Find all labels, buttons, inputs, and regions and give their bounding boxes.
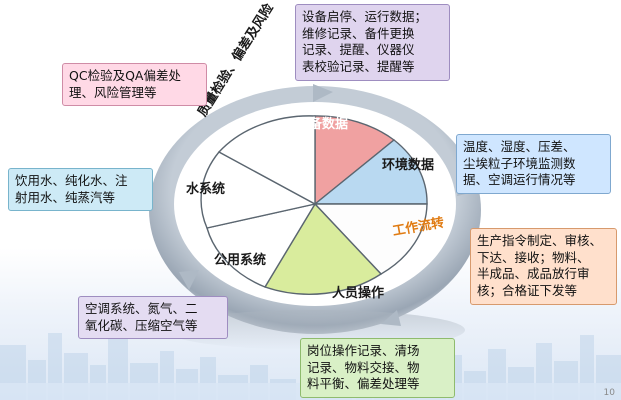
page-number: 10	[604, 388, 615, 398]
callout-environment-data: 温度、湿度、压差、 尘埃粒子环境监测数 据、空调运行情况等	[456, 134, 611, 194]
slice-label-personnel-ops: 人员操作	[332, 282, 384, 301]
callout-water-systems: 饮用水、纯化水、注 射用水、纯蒸汽等	[8, 168, 153, 211]
slice-label-environment-data: 环境数据	[382, 154, 434, 173]
callout-line: 理、风险管理等	[69, 85, 200, 102]
callout-line: 空调系统、氮气、二	[85, 301, 221, 318]
callout-line: 岗位操作记录、清场	[307, 343, 448, 360]
callout-line: 据、空调运行情况等	[463, 172, 604, 189]
callout-line: QC检验及QA偏差处	[69, 68, 200, 85]
callout-line: 设备启停、运行数据；	[302, 9, 443, 26]
callout-line: 料平衡、偏差处理等	[307, 376, 448, 393]
slice-label-water-systems: 水系统	[186, 178, 225, 197]
callout-equipment-data: 设备启停、运行数据； 维修记录、备件更换 记录、提醒、仪器仪 表校验记录、提醒等	[295, 4, 450, 81]
callout-line: 记录、提醒、仪器仪	[302, 42, 443, 59]
slice-label-utility-systems: 公用系统	[214, 249, 266, 268]
callout-line: 饮用水、纯化水、注	[15, 173, 146, 190]
callout-qc-deviation: QC检验及QA偏差处 理、风险管理等	[62, 63, 207, 106]
callout-personnel-ops: 岗位操作记录、清场 记录、物料交接、物 料平衡、偏差处理等	[300, 338, 455, 398]
callout-line: 氧化碳、压缩空气等	[85, 318, 221, 335]
callout-utility-systems: 空调系统、氮气、二 氧化碳、压缩空气等	[78, 296, 228, 339]
callout-line: 尘埃粒子环境监测数	[463, 156, 604, 173]
callout-line: 维修记录、备件更换	[302, 26, 443, 43]
callout-line: 温度、湿度、压差、	[463, 139, 604, 156]
slice-label-equipment-data: 设备数据	[296, 113, 348, 132]
callout-line: 生产指令制定、审核、	[477, 233, 610, 250]
callout-line: 射用水、纯蒸汽等	[15, 190, 146, 207]
callout-workflow: 生产指令制定、审核、 下达、接收；物料、 半成品、成品放行审 核；合格证下发等	[470, 228, 617, 305]
callout-line: 半成品、成品放行审	[477, 266, 610, 283]
callout-line: 表校验记录、提醒等	[302, 59, 443, 76]
callout-line: 下达、接收；物料、	[477, 250, 610, 267]
callout-line: 核；合格证下发等	[477, 283, 610, 300]
callout-line: 记录、物料交接、物	[307, 360, 448, 377]
